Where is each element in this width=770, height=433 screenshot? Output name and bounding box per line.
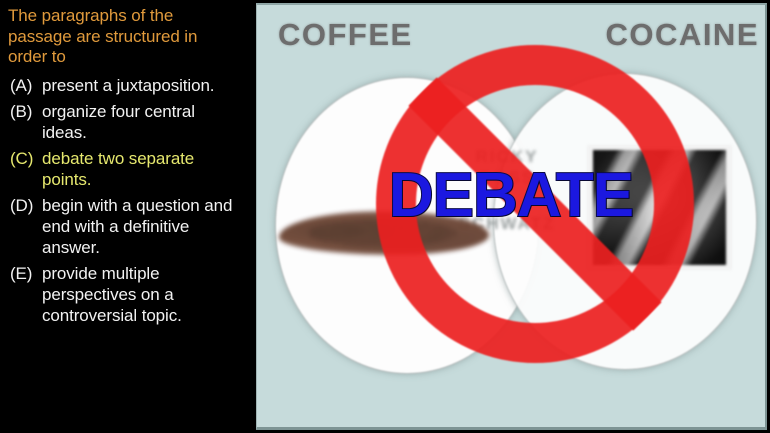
- answer-choice-b-tag: (B): [10, 101, 32, 122]
- answer-choice-b[interactable]: (B) organize four central ideas.: [8, 101, 243, 143]
- answer-choice-a[interactable]: (A) present a juxtaposition.: [8, 75, 243, 96]
- question-panel: The paragraphs of the passage are struct…: [0, 0, 249, 433]
- question-stem: The paragraphs of the passage are struct…: [8, 6, 233, 68]
- slide-canvas: The paragraphs of the passage are struct…: [0, 0, 770, 433]
- debate-overlay-word: DEBATE: [257, 165, 765, 227]
- answer-choice-b-text: organize four central ideas.: [42, 102, 195, 142]
- answer-choice-a-tag: (A): [10, 75, 32, 96]
- illustration-panel: COFFEE COCAINE RICKY BOSS SCHWATZ DEBATE: [256, 3, 767, 430]
- answer-choice-d-text: begin with a question and end with a def…: [42, 196, 232, 257]
- venn-label-coffee: COFFEE: [278, 17, 413, 53]
- answer-choice-c-tag: (C): [10, 148, 33, 169]
- answer-choice-d-tag: (D): [10, 195, 33, 216]
- answer-choice-c-text: debate two separate points.: [42, 149, 194, 189]
- answer-choice-e[interactable]: (E) provide multiple perspectives on a c…: [8, 263, 243, 326]
- answer-choice-d[interactable]: (D) begin with a question and end with a…: [8, 195, 243, 258]
- answer-choice-e-text: provide multiple perspectives on a contr…: [42, 264, 182, 325]
- answer-choice-a-text: present a juxtaposition.: [42, 76, 214, 95]
- venn-label-cocaine: COCAINE: [606, 17, 759, 53]
- venn-diagram: COFFEE COCAINE RICKY BOSS SCHWATZ DEBATE: [257, 5, 765, 427]
- answer-choice-e-tag: (E): [10, 263, 32, 284]
- answer-choice-c[interactable]: (C) debate two separate points.: [8, 148, 243, 190]
